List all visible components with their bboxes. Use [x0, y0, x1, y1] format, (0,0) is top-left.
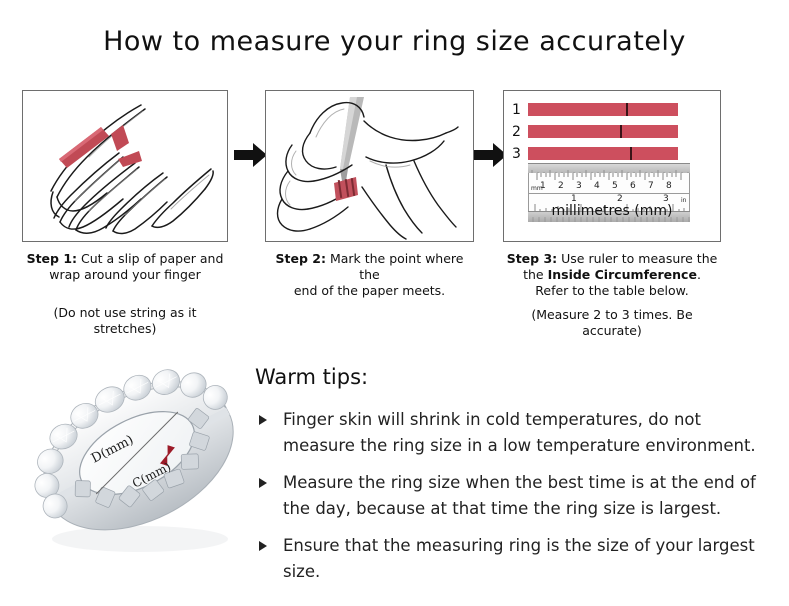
warm-tips-section: Warm tips: Finger skin will shrink in co…: [255, 365, 775, 596]
step-3-caption: Step 3: Use ruler to measure the the Ins…: [503, 251, 721, 299]
hand-marking-paper-with-pen-drawing: [266, 91, 473, 241]
ruler-cm-tick-2: 2: [558, 182, 564, 191]
ruler-cm-tick-8: 8: [666, 182, 672, 191]
strip-number-1: 1: [512, 103, 528, 117]
strip-row-1: 1: [512, 101, 678, 118]
triangle-bullet-icon-3: [259, 541, 267, 551]
strip-row-3: 3: [512, 145, 678, 162]
strip-number-3: 3: [512, 147, 528, 161]
step-3-illustration-panel: 1 2 3: [503, 90, 721, 242]
ruler-cm-tick-1: 1: [540, 182, 546, 191]
ruler-cm-tick-4: 4: [594, 182, 600, 191]
strip-number-2: 2: [512, 125, 528, 139]
warm-tip-text-3: Ensure that the measuring ring is the si…: [283, 536, 755, 581]
step-3-note: (Measure 2 to 3 times. Be accurate): [503, 307, 721, 339]
step-1-column: Step 1: Cut a slip of paper and wrap aro…: [22, 90, 228, 337]
step-3-caption-line1: Use ruler to measure the: [557, 251, 717, 266]
steps-row: Step 1: Cut a slip of paper and wrap aro…: [0, 90, 789, 340]
strip-mark-3: [630, 147, 632, 160]
warm-tip-item-1: Finger skin will shrink in cold temperat…: [255, 407, 775, 459]
step-3-caption-line2-pre: the: [523, 267, 548, 282]
ruler-top-edge: [528, 163, 690, 173]
arrow-right-icon-1: [234, 142, 268, 168]
step-1-note: (Do not use string as it stretches): [22, 305, 228, 337]
inside-circumference-emphasis: Inside Circumference: [548, 267, 697, 282]
step-2-caption: Step 2: Mark the point where the end of …: [265, 251, 474, 299]
lower-section: D(mm) C(mm) Warm tips: Finger skin will …: [0, 345, 789, 605]
paper-ring-on-finger: [334, 177, 358, 201]
step-3-caption-line2-post: .: [697, 267, 701, 282]
step-3-column: 1 2 3: [503, 90, 721, 339]
strip-mark-1: [626, 103, 628, 116]
step-1-illustration-panel: [22, 90, 228, 242]
hand-with-paper-strip-drawing: [23, 91, 227, 241]
strip-bar-1: [528, 103, 678, 116]
strip-bar-3: [528, 147, 678, 160]
measured-paper-strips: 1 2 3: [512, 101, 678, 167]
warm-tip-item-3: Ensure that the measuring ring is the si…: [255, 533, 775, 585]
warm-tip-text-1: Finger skin will shrink in cold temperat…: [283, 410, 756, 455]
eternity-ring-photo-illustration: D(mm) C(mm): [22, 353, 252, 568]
warm-tip-item-2: Measure the ring size when the best time…: [255, 470, 775, 522]
ruler-cm-tick-3: 3: [576, 182, 582, 191]
ruler-cm-tick-6: 6: [630, 182, 636, 191]
strip-bar-2: [528, 125, 678, 138]
step-2-caption-line2: end of the paper meets.: [294, 283, 445, 298]
ring-diagram: D(mm) C(mm): [22, 353, 252, 568]
warm-tip-text-2: Measure the ring size when the best time…: [283, 473, 756, 518]
warm-tips-heading: Warm tips:: [255, 365, 775, 389]
triangle-bullet-icon-2: [259, 478, 267, 488]
strip-mark-2: [620, 125, 622, 138]
step-1-caption-line2: wrap around your finger: [49, 267, 201, 282]
step-1-label: Step 1:: [27, 251, 77, 266]
step-2-caption-line1: Mark the point where the: [326, 251, 464, 282]
step-2-illustration-panel: [265, 90, 474, 242]
ruler-cm-ticks: [529, 173, 689, 193]
ruler-cm-scale: mm 1 2 3 4 5 6 7 8: [528, 173, 690, 193]
step-1-caption: Step 1: Cut a slip of paper and wrap aro…: [22, 251, 228, 283]
step-3-caption-line3: Refer to the table below.: [535, 283, 688, 298]
page-title: How to measure your ring size accurately: [0, 26, 789, 57]
step-2-column: Step 2: Mark the point where the end of …: [265, 90, 474, 299]
ring-size-guide-page: { "title": "How to measure your ring siz…: [0, 0, 789, 606]
ruler-unit-label: millimetres (mm): [504, 203, 720, 219]
triangle-bullet-icon-1: [259, 415, 267, 425]
step-2-label: Step 2:: [276, 251, 326, 266]
step-1-caption-line1: Cut a slip of paper and: [77, 251, 223, 266]
ruler-cm-tick-5: 5: [612, 182, 618, 191]
strip-row-2: 2: [512, 123, 678, 140]
ruler-cm-tick-7: 7: [648, 182, 654, 191]
step-3-label: Step 3:: [507, 251, 557, 266]
